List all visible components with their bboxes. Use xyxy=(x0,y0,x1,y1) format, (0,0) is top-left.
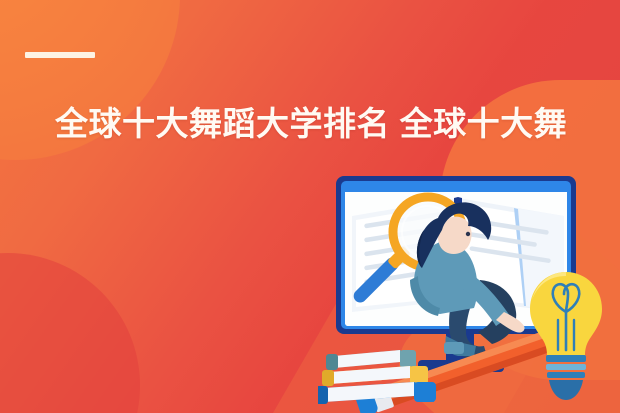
accent-dash xyxy=(25,52,95,58)
book-stack xyxy=(318,350,436,404)
page-title: 全球十大舞蹈大学排名 全球十大舞 xyxy=(55,104,620,144)
research-illustration xyxy=(318,160,620,413)
article-cover-banner: 全球十大舞蹈大学排名 全球十大舞 xyxy=(0,0,620,413)
light-bulb-icon xyxy=(530,272,602,400)
